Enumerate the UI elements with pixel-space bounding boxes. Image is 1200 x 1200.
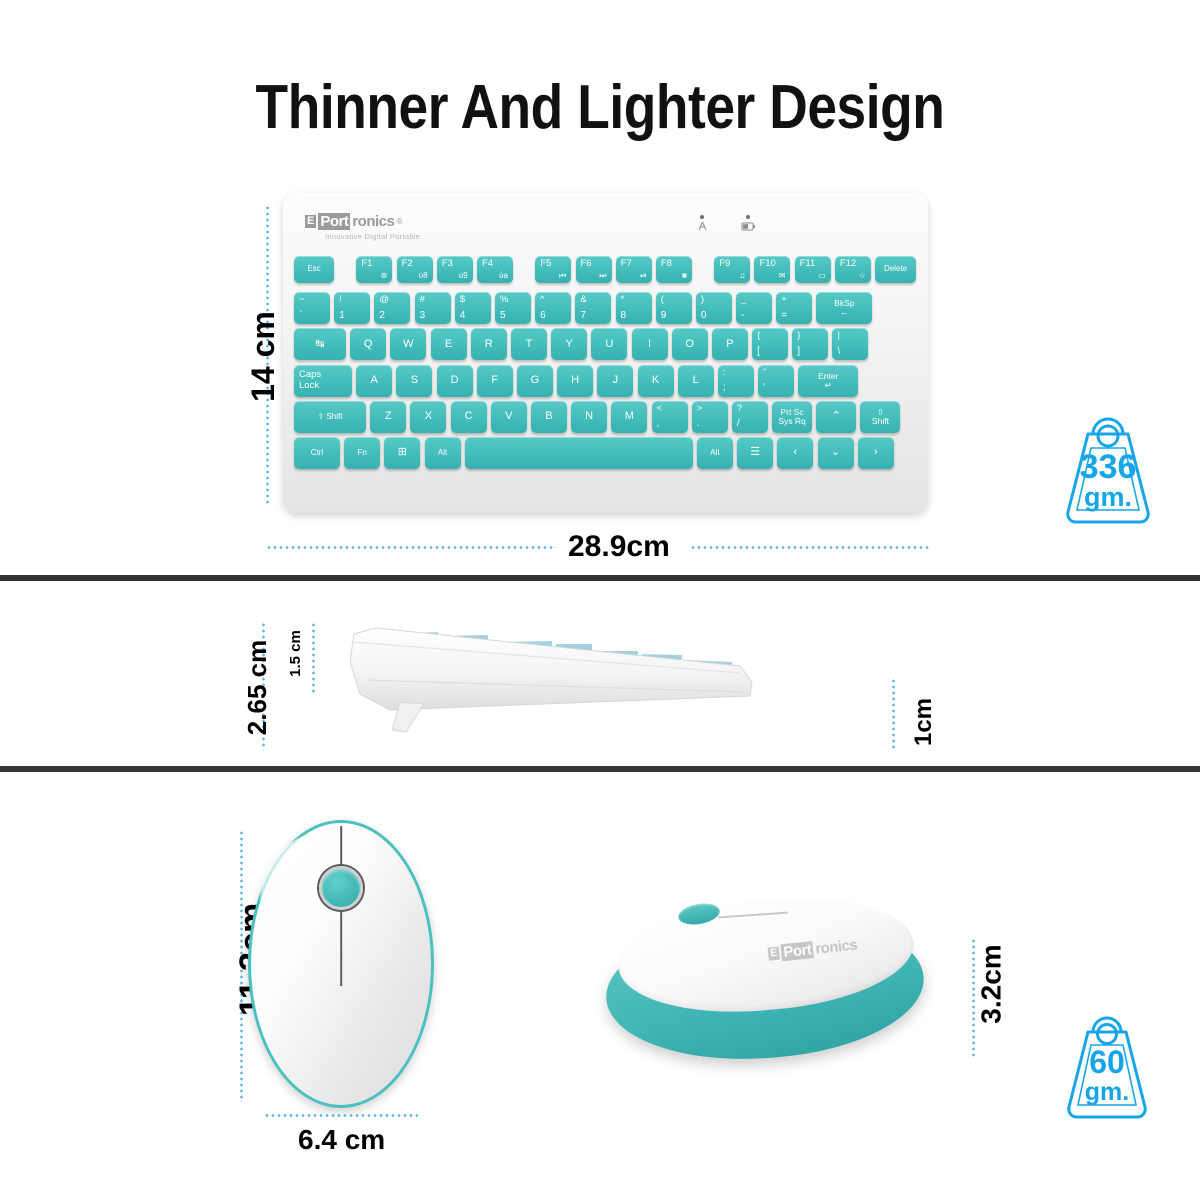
mouse-scroll-wheel (319, 866, 363, 910)
key-function-icon: ■ (682, 272, 687, 280)
key--[interactable]: ⌄ (818, 437, 854, 469)
key-legend-lower: 6 (540, 311, 546, 322)
key-legend-upper: % (500, 295, 508, 305)
key-g[interactable]: G (517, 365, 553, 397)
key-legend: F8 (661, 259, 672, 269)
number-row: ~`!1@2#3$4%5^6&7*8(9)0_-+=BkSp← (294, 292, 917, 324)
key-f2[interactable]: F2ὐ8 (397, 256, 433, 283)
key-k[interactable]: K (638, 365, 674, 397)
key-legend: ☰ (750, 447, 760, 459)
key-legend: Alt (438, 449, 447, 457)
key-legend-lower: 9 (661, 311, 667, 322)
key-legend: N (585, 411, 593, 423)
key-esc[interactable]: Esc (294, 256, 334, 283)
wireless-mouse-top-view (248, 820, 434, 1108)
logo-mark-e: E (305, 215, 316, 228)
key-caps[interactable]: CapsLock (294, 365, 352, 397)
key-legend-upper: ( (661, 295, 664, 305)
key-f4[interactable]: F4ὐa (477, 256, 513, 283)
key-function-icon: ⏮ (559, 272, 566, 280)
key-legend-upper: ? (737, 404, 742, 414)
key-legend: A (371, 375, 378, 387)
key-1[interactable]: !1 (334, 292, 370, 324)
key-legend-lower: 3 (420, 311, 426, 322)
key-q[interactable]: Q (350, 328, 386, 360)
key-f5[interactable]: F5⏮ (535, 256, 571, 283)
mouse-weight-value: 60 (1047, 1044, 1167, 1081)
key-legend-upper: < (657, 404, 663, 414)
key-legend: H (571, 375, 579, 387)
bottom-row: CtrlFn⊞AltAlt☰‹⌄› (294, 437, 917, 469)
key-legend: E (445, 339, 452, 351)
key-e[interactable]: E (431, 328, 467, 360)
key-f3[interactable]: F3ὐ9 (437, 256, 473, 283)
key-o[interactable]: O (672, 328, 708, 360)
key-legend: F7 (621, 259, 632, 269)
key-legend: ⇧ Shift (318, 413, 343, 421)
key-legend-lower: 1 (339, 311, 345, 322)
key--[interactable]: ‹ (777, 437, 813, 469)
key-legend-lower: 0 (701, 311, 707, 322)
logo-mark-e: E (768, 947, 781, 961)
key-h[interactable]: H (557, 365, 593, 397)
key-f10[interactable]: F10✉ (754, 256, 790, 283)
side-front-thickness-label: 1cm (910, 698, 938, 746)
key-legend-upper: " (763, 368, 766, 378)
key-function-icon: ✉ (779, 272, 786, 280)
key-legend-lower: . (697, 419, 700, 430)
key-legend-upper: $ (460, 295, 465, 305)
key-legend: G (531, 375, 540, 387)
key-legend: F1 (361, 259, 372, 269)
key-legend: S (411, 375, 418, 387)
portronics-logo: E Port ronics ® Innovative Digital Porta… (305, 213, 435, 243)
key-9[interactable]: (9 (656, 292, 692, 324)
key-legend-upper: + (781, 295, 787, 305)
key-legend: Z (385, 411, 392, 423)
infographic-page: Thinner And Lighter Design 14 cm E Port … (0, 0, 1200, 1200)
key-legend: Alt (710, 449, 719, 457)
key-legend-upper: # (420, 295, 425, 305)
qwerty-row: ↹QWERTYUIOP{[}]|\ (294, 328, 917, 360)
key-fn[interactable]: Fn (344, 437, 380, 469)
key-l[interactable]: L (678, 365, 714, 397)
key-f6[interactable]: F6⏭ (576, 256, 612, 283)
logo-text-rest: ronics (352, 213, 394, 230)
key-5[interactable]: %5 (495, 292, 531, 324)
side-total-thickness-label: 2.65 cm (242, 640, 273, 735)
key-legend: Enter↵ (818, 372, 838, 390)
key--[interactable]: }] (792, 328, 828, 360)
key-legend-lower: / (737, 419, 740, 430)
key-legend: R (485, 339, 493, 351)
key-legend: ⇧Shift (872, 408, 889, 426)
key--[interactable]: :; (718, 365, 754, 397)
key-legend-lower: ' (763, 383, 765, 394)
keyboard-height-label: 14 cm (245, 311, 282, 402)
mouse-depth-guide (972, 938, 975, 1058)
home-row: CapsLockASDFGHJKL:;"'Enter↵ (294, 365, 917, 397)
key-r[interactable]: R (471, 328, 507, 360)
section-divider-2 (0, 766, 1200, 772)
key--[interactable]: ?/ (732, 401, 768, 433)
mouse-width-guide (264, 1114, 418, 1117)
key-legend: CapsLock (294, 370, 352, 391)
key-legend-upper: _ (741, 295, 746, 305)
key-legend-lower: 5 (500, 311, 506, 322)
key-j[interactable]: J (597, 365, 633, 397)
keyboard-width-guide-right (690, 546, 930, 549)
section-divider-1 (0, 575, 1200, 581)
key-function-icon: ὐ9 (459, 272, 468, 280)
key-m[interactable]: M (611, 401, 647, 433)
key-legend: Delete (884, 265, 907, 273)
key-y[interactable]: Y (551, 328, 587, 360)
keyboard-side-profile (320, 610, 890, 740)
key-legend: ⌃ (832, 411, 841, 423)
mouse-width-label: 6.4 cm (298, 1124, 385, 1156)
keyboard-profile-illustration (320, 610, 890, 740)
key-legend-lower: 7 (580, 311, 586, 322)
key-function-icon: ♫ (739, 272, 745, 280)
key-enter[interactable]: Enter↵ (798, 365, 858, 397)
key-function-icon: ὐa (499, 272, 508, 280)
wireless-keyboard-top-view: E Port ronics ® Innovative Digital Porta… (283, 193, 928, 513)
key-legend-upper: > (697, 404, 703, 414)
key-s[interactable]: S (396, 365, 432, 397)
key-legend: J (613, 375, 619, 387)
key-function-icon: ⏭ (599, 272, 606, 280)
key-3[interactable]: #3 (415, 292, 451, 324)
key-legend: U (605, 339, 613, 351)
key-legend: V (505, 411, 512, 423)
caps-glyph (696, 221, 709, 232)
key-legend: ⌄ (831, 447, 840, 459)
key-f9[interactable]: F9♫ (714, 256, 750, 283)
key-legend-lower: 4 (460, 311, 466, 322)
side-key-height-label: 1.5 cm (287, 630, 304, 677)
logo-text-boxed: Port (318, 213, 350, 230)
key-bksp[interactable]: BkSp← (816, 292, 872, 324)
key-legend: ‹ (793, 447, 797, 459)
key--[interactable]: ⌃ (816, 401, 856, 433)
key-legend: O (685, 339, 694, 351)
key-spacer[interactable] (465, 437, 693, 469)
key-prt-sc[interactable]: Prt ScSys Rq (772, 401, 812, 433)
mouse-depth-label: 3.2cm (976, 944, 1008, 1023)
key-legend: L (693, 375, 699, 387)
key-delete[interactable]: Delete (875, 256, 916, 283)
key--[interactable]: ☰ (737, 437, 773, 469)
key-x[interactable]: X (410, 401, 446, 433)
key--[interactable]: {[ (752, 328, 788, 360)
key--[interactable]: _- (736, 292, 772, 324)
key--[interactable]: >. (692, 401, 728, 433)
key-legend: Y (565, 339, 572, 351)
key-legend: BkSp← (834, 299, 854, 317)
key-t[interactable]: T (511, 328, 547, 360)
key-a[interactable]: A (356, 365, 392, 397)
key-f12[interactable]: F12☆ (835, 256, 871, 283)
key-legend-lower: , (657, 419, 660, 430)
key-legend-upper: ~ (299, 295, 305, 305)
battery-glyph (741, 221, 756, 232)
key--[interactable]: ↹ (294, 328, 346, 360)
keyboard-width-guide-left (266, 546, 556, 549)
key-legend: Fn (358, 449, 367, 457)
key-legend: F4 (482, 259, 493, 269)
key-legend-upper: ^ (540, 295, 544, 305)
key-legend-upper: : (723, 368, 726, 378)
key-legend: C (465, 411, 473, 423)
key--[interactable]: |\ (832, 328, 868, 360)
key-legend-upper: ) (701, 295, 704, 305)
key-7[interactable]: &7 (575, 292, 611, 324)
key-i[interactable]: I (632, 328, 668, 360)
key-function-icon: ☆ (859, 272, 866, 280)
key-legend: › (874, 447, 878, 459)
key-z[interactable]: Z (370, 401, 406, 433)
key-function-icon: ▭ (818, 272, 826, 280)
logo-tagline: Innovative Digital Portable. (325, 232, 435, 241)
key-legend: F10 (759, 259, 775, 269)
key--[interactable]: <, (652, 401, 688, 433)
key-alt[interactable]: Alt (697, 437, 733, 469)
key-legend: F11 (800, 259, 816, 269)
key-legend-lower: ` (299, 311, 302, 322)
wireless-mouse-perspective: E Port ronics (600, 892, 930, 1072)
key-legend-lower: ; (723, 383, 726, 394)
key-legend-lower: 2 (379, 311, 385, 322)
key-legend: Q (364, 339, 373, 351)
key--[interactable]: ~` (294, 292, 330, 324)
key-legend: F5 (540, 259, 551, 269)
keyboard-key-rows: EscF1⊛F2ὐ8F3ὐ9F4ὐaF5⏮F6⏭F7⏯F8■F9♫F10✉F11… (294, 256, 917, 473)
key-legend-upper: @ (379, 295, 389, 305)
key--[interactable]: ⇧Shift (860, 401, 900, 433)
key-legend: W (403, 339, 413, 351)
key-legend: F3 (442, 259, 453, 269)
key-legend: ↹ (315, 339, 324, 351)
key-legend-lower: [ (757, 347, 760, 358)
key-u[interactable]: U (591, 328, 627, 360)
side-front-thickness-guide (892, 678, 895, 750)
key-legend-lower: = (781, 311, 787, 322)
key-legend: M (625, 411, 634, 423)
keyboard-width-label: 28.9cm (568, 530, 670, 564)
shift-row: ⇧ ShiftZXCVBNM<,>.?/Prt ScSys Rq⌃⇧Shift (294, 401, 917, 433)
key--[interactable]: "' (758, 365, 794, 397)
key-legend: F6 (581, 259, 592, 269)
registered-trademark-icon: ® (396, 217, 402, 226)
key-n[interactable]: N (571, 401, 607, 433)
key-f11[interactable]: F11▭ (795, 256, 831, 283)
key-legend-upper: ! (339, 295, 342, 305)
key-legend: Esc (307, 265, 320, 273)
key--shift[interactable]: ⇧ Shift (294, 401, 366, 433)
key-p[interactable]: P (712, 328, 748, 360)
key-c[interactable]: C (451, 401, 487, 433)
key-legend: Prt ScSys Rq (778, 408, 805, 426)
key-2[interactable]: @2 (374, 292, 410, 324)
key-w[interactable]: W (390, 328, 426, 360)
key-function-icon: ⊛ (381, 272, 388, 280)
key-legend: X (425, 411, 432, 423)
key-legend: P (726, 339, 733, 351)
key--[interactable]: ⊞ (384, 437, 420, 469)
key-legend: F9 (719, 259, 730, 269)
key-legend-upper: } (797, 331, 800, 341)
key-f1[interactable]: F1⊛ (356, 256, 392, 283)
key-v[interactable]: V (491, 401, 527, 433)
caps-lock-indicator-icon (695, 215, 709, 233)
key-legend-lower: - (741, 311, 744, 322)
key-legend-upper: | (837, 331, 839, 341)
key-f8[interactable]: F8■ (656, 256, 692, 283)
key-f7[interactable]: F7⏯ (616, 256, 652, 283)
key-d[interactable]: D (437, 365, 473, 397)
key-legend: T (526, 339, 533, 351)
key-legend-lower: \ (837, 347, 840, 358)
key-legend-upper: & (580, 295, 586, 305)
key-legend: F2 (402, 259, 413, 269)
key-legend: K (652, 375, 659, 387)
page-title: Thinner And Lighter Design (84, 72, 1116, 143)
key-legend-upper: { (757, 331, 760, 341)
keyboard-weight-unit: gm. (1044, 482, 1172, 513)
mouse-weight-badge: 60 gm. (1047, 1006, 1167, 1124)
function-row: EscF1⊛F2ὐ8F3ὐ9F4ὐaF5⏮F6⏭F7⏯F8■F9♫F10✉F11… (294, 256, 917, 288)
key-f[interactable]: F (477, 365, 513, 397)
key-b[interactable]: B (531, 401, 567, 433)
key-legend: I (648, 339, 651, 351)
key-4[interactable]: $4 (455, 292, 491, 324)
mouse-weight-unit: gm. (1047, 1078, 1167, 1107)
key-8[interactable]: *8 (616, 292, 652, 324)
key-function-icon: ὐ8 (419, 272, 428, 280)
key-legend: Ctrl (311, 449, 323, 457)
key-legend-lower: ] (797, 347, 800, 358)
key-legend-upper: * (621, 295, 625, 305)
side-key-height-guide (312, 622, 315, 694)
key-0[interactable]: )0 (696, 292, 732, 324)
key-legend: B (545, 411, 552, 423)
key-legend: D (451, 375, 459, 387)
key-function-icon: ⏯ (640, 272, 646, 280)
key-6[interactable]: ^6 (535, 292, 571, 324)
key-legend: F12 (840, 259, 856, 269)
keyboard-weight-badge: 336 gm. (1044, 404, 1172, 530)
key--[interactable]: += (776, 292, 812, 324)
logo-text-boxed: Port (781, 941, 815, 962)
key--[interactable]: › (858, 437, 894, 469)
key-alt[interactable]: Alt (425, 437, 461, 469)
key-legend-lower: 8 (621, 311, 627, 322)
key-legend: F (491, 375, 498, 387)
battery-indicator-icon (741, 215, 755, 233)
key-legend: ⊞ (398, 447, 407, 459)
key-ctrl[interactable]: Ctrl (294, 437, 340, 469)
